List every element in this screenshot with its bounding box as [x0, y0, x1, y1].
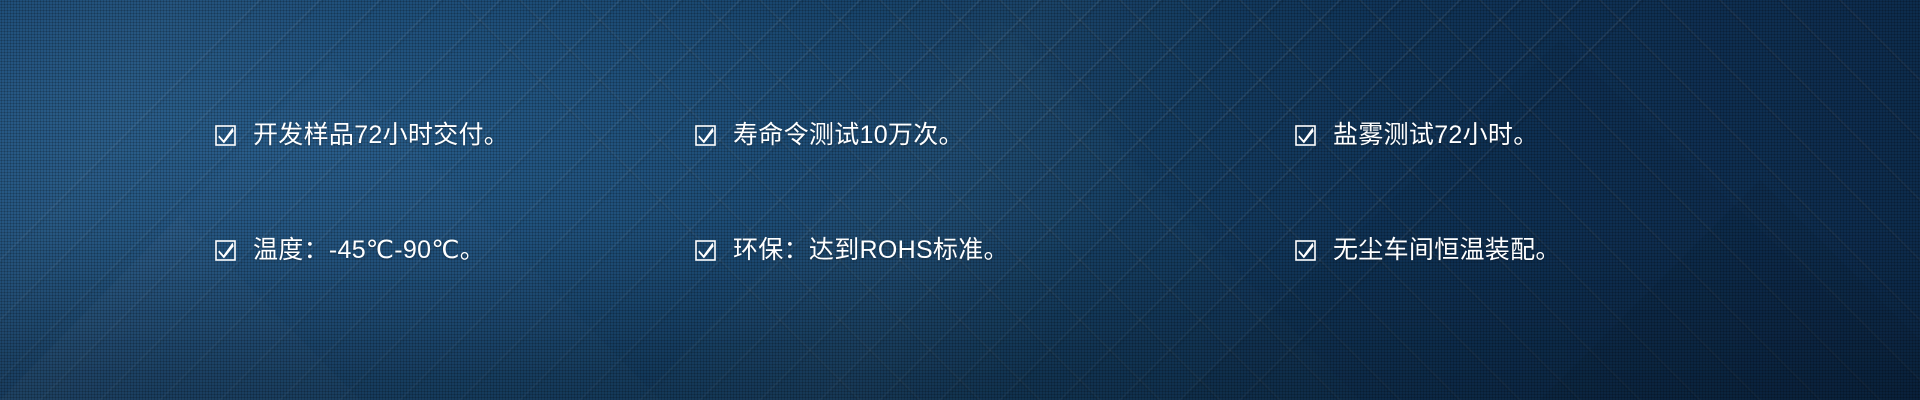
feature-label: 盐雾测试72小时。 [1333, 123, 1539, 148]
feature-item-sample-delivery: 开发样品72小时交付。 [215, 78, 695, 193]
feature-label: 环保：达到ROHS标准。 [733, 238, 1009, 263]
feature-item-rohs-compliance: 环保：达到ROHS标准。 [695, 193, 1295, 308]
feature-item-life-cycle-test: 寿命令测试10万次。 [695, 78, 1295, 193]
checkbox-checked-icon [1295, 125, 1316, 146]
feature-label: 开发样品72小时交付。 [253, 123, 509, 148]
feature-item-cleanroom-assembly: 无尘车间恒温装配。 [1295, 193, 1920, 308]
feature-item-salt-spray-test: 盐雾测试72小时。 [1295, 78, 1920, 193]
feature-label: 无尘车间恒温装配。 [1333, 238, 1561, 263]
feature-banner: 开发样品72小时交付。 寿命令测试10万次。 盐雾测试72小时。 [0, 0, 1920, 400]
feature-grid: 开发样品72小时交付。 寿命令测试10万次。 盐雾测试72小时。 [0, 0, 1920, 400]
feature-label: 寿命令测试10万次。 [733, 123, 964, 148]
checkbox-checked-icon [215, 240, 236, 261]
feature-label: 温度：-45℃-90℃。 [253, 238, 485, 263]
checkbox-checked-icon [695, 125, 716, 146]
feature-item-temperature-range: 温度：-45℃-90℃。 [215, 193, 695, 308]
checkbox-checked-icon [695, 240, 716, 261]
checkbox-checked-icon [1295, 240, 1316, 261]
checkbox-checked-icon [215, 125, 236, 146]
